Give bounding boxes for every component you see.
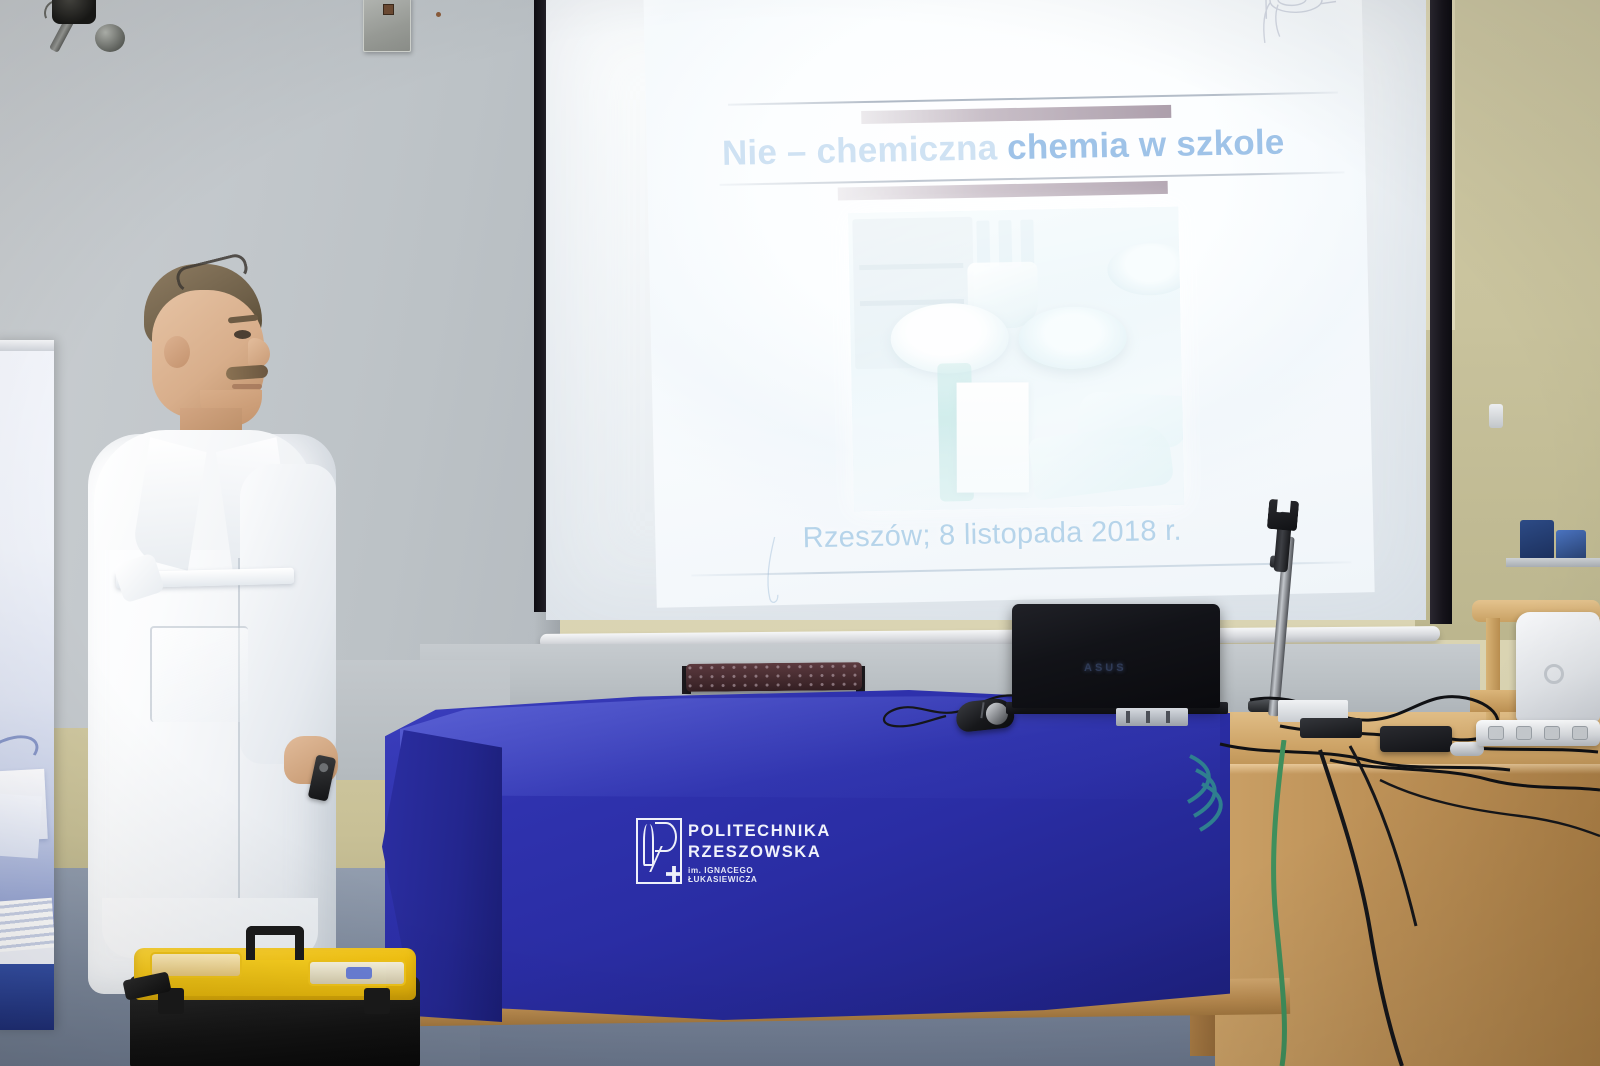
camera-head: [52, 0, 96, 24]
presenter-ear: [164, 336, 190, 368]
banner-blue-footer: [0, 964, 54, 1030]
mouse-button-split: [980, 702, 984, 718]
university-name-line3: im. IGNACEGO ŁUKASIEWICZA: [688, 866, 811, 884]
slide-accent-bar-bottom: [838, 181, 1168, 201]
wall-speaker: [363, 0, 411, 52]
device-line-1: [1126, 711, 1130, 723]
power-socket-4[interactable]: [1572, 726, 1588, 740]
desk-device: [1116, 708, 1188, 726]
university-logo-mark: [636, 818, 682, 884]
projection-screen: Nie – chemiczna chemia w szkole: [520, 0, 1450, 652]
slide-title-strong: chemia w szkole: [1007, 123, 1285, 168]
laptop-brand-logo: ASUS: [1084, 662, 1127, 674]
green-floor-cable: [1230, 740, 1430, 1066]
banner-top-rail: [0, 340, 54, 351]
shelf-box-1: [1520, 520, 1554, 560]
slide-subtitle: Rzeszów; 8 listopada 2018 r.: [802, 512, 1323, 555]
power-socket-1[interactable]: [1488, 726, 1504, 740]
presenter-mouth: [232, 384, 262, 389]
slide-title-dim: Nie – chemiczna: [722, 128, 1008, 173]
toolbox[interactable]: [130, 930, 420, 1066]
power-socket-3[interactable]: [1544, 726, 1560, 740]
logo-stroke-1: [643, 824, 654, 866]
presenter-eye: [234, 330, 251, 339]
screen-right-rail: [1430, 0, 1452, 624]
slide-accent-bar-top: [861, 105, 1171, 124]
slide-decorative-sketch: [1234, 0, 1345, 48]
photo-washout-veil: [848, 207, 1184, 512]
banner-document-graphic-2: [0, 793, 42, 858]
wall-mark: [436, 12, 441, 17]
speaker-indicator: [383, 4, 394, 15]
slide-title: Nie – chemiczna chemia w szkole: [722, 121, 1363, 174]
roll-up-banner: [0, 340, 54, 1030]
device-line-3: [1166, 711, 1170, 723]
shelf-box-2: [1556, 530, 1586, 560]
toolbox-handle[interactable]: [246, 926, 304, 960]
slide-content: Nie – chemiczna chemia w szkole: [665, 25, 1366, 579]
presenter-nose: [248, 338, 270, 368]
lab-coat-seam: [238, 558, 240, 918]
university-name-line2: RZESZOWSKA: [688, 843, 821, 862]
power-strip[interactable]: [1476, 720, 1600, 746]
lab-coat-sleeve: [240, 464, 336, 764]
device-line-2: [1146, 711, 1150, 723]
university-logo: POLITECHNIKA RZESZOWSKA im. IGNACEGO ŁUK…: [636, 816, 811, 896]
upholstered-chair-back: [686, 662, 862, 692]
toolbox-tray-right[interactable]: [308, 960, 406, 986]
power-adapter-2: [1300, 718, 1362, 738]
university-name-line1: POLITECHNIKA: [688, 822, 831, 841]
wall-shelf: [1506, 558, 1600, 567]
power-socket-2[interactable]: [1516, 726, 1532, 740]
camera-mount-ball: [95, 24, 125, 52]
slide-photo: [848, 207, 1184, 512]
presenter: [88, 258, 338, 958]
slide-rule-top: [728, 91, 1338, 105]
toolbox-latch-right[interactable]: [364, 988, 390, 1014]
lab-coat-pocket: [150, 626, 248, 722]
smoke-detector: [1489, 404, 1503, 428]
remote-button[interactable]: [318, 762, 329, 773]
lecture-hall-photo: Nie – chemiczna chemia w szkole: [0, 0, 1600, 1066]
